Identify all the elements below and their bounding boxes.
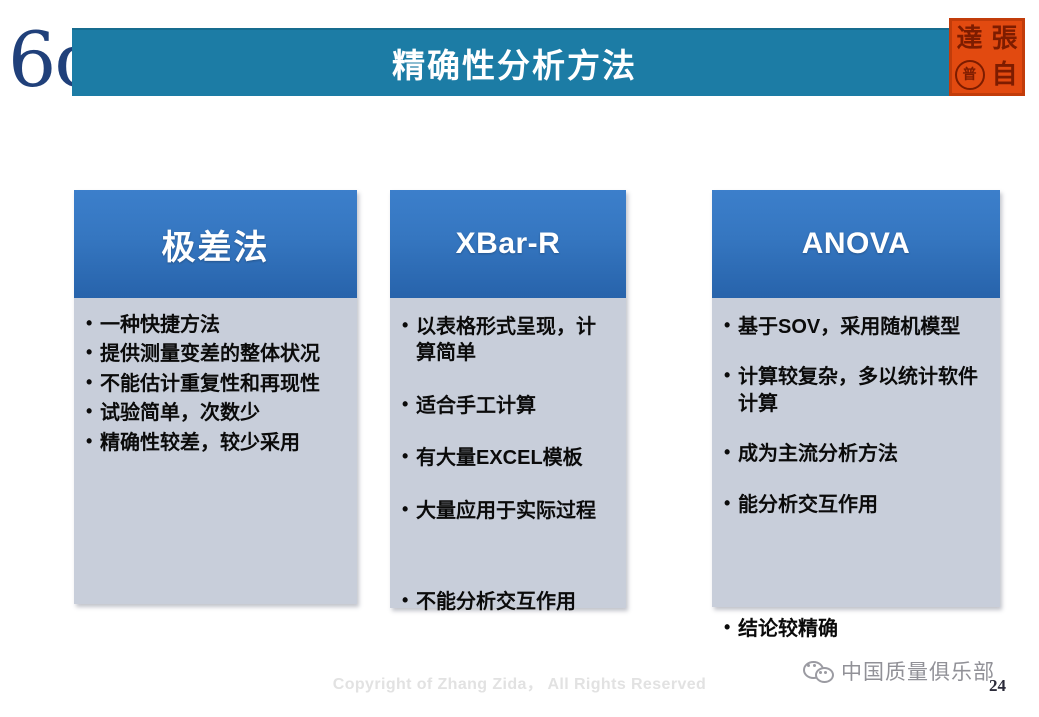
seal-char-2: 張 bbox=[987, 21, 1022, 57]
card-header-anova: ANOVA bbox=[712, 190, 1000, 298]
list-item-label: 有大量EXCEL模板 bbox=[416, 445, 614, 471]
seal-char-3: 普 bbox=[952, 57, 987, 93]
card-title-anova: ANOVA bbox=[802, 227, 911, 261]
seal-char-4: 自 bbox=[987, 57, 1022, 93]
list-item-label: 结论较精确 bbox=[738, 616, 838, 642]
bullet-dot-icon: • bbox=[402, 393, 416, 417]
bullet-dot-icon: • bbox=[724, 616, 738, 640]
bullet-dot-icon: • bbox=[402, 314, 416, 338]
bullet-dot-icon: • bbox=[402, 498, 416, 522]
bullet-dot-icon: • bbox=[724, 364, 738, 388]
card-title-xbar-r: XBar-R bbox=[456, 227, 561, 261]
bullet-dot-icon: • bbox=[86, 400, 100, 424]
page-number: 24 bbox=[989, 676, 1006, 696]
bullet-dot-icon: • bbox=[86, 312, 100, 336]
list-item-label: 大量应用于实际过程 bbox=[416, 498, 614, 524]
list-item-label: 能分析交互作用 bbox=[738, 492, 988, 518]
list-item-label: 一种快捷方法 bbox=[100, 312, 345, 338]
list-item: • 能分析交互作用 bbox=[724, 492, 988, 518]
bullet-dot-icon: • bbox=[86, 341, 100, 365]
bullet-dot-icon: • bbox=[402, 589, 416, 613]
list-item-overflow-anova: • 结论较精确 bbox=[724, 616, 838, 642]
seal-stamp-logo: 達 張 普 自 bbox=[949, 18, 1025, 96]
list-item-label: 适合手工计算 bbox=[416, 393, 614, 419]
page-title: 精确性分析方法 bbox=[392, 39, 637, 87]
list-item-overflow-xbar-r: • 不能分析交互作用 bbox=[402, 589, 576, 615]
card-body-xbar-r: • 以表格形式呈现，计算简单 • 适合手工计算 • 有大量EXCEL模板 • 大… bbox=[390, 298, 626, 560]
list-item-label: 不能估计重复性和再现性 bbox=[100, 371, 345, 397]
seal-char-3-inner: 普 bbox=[955, 60, 985, 90]
card-header-xbar-r: XBar-R bbox=[390, 190, 626, 298]
list-item-label: 以表格形式呈现，计算简单 bbox=[416, 314, 614, 367]
bullet-dot-icon: • bbox=[86, 430, 100, 454]
bullet-dot-icon: • bbox=[724, 492, 738, 516]
list-item: • 试验简单，次数少 bbox=[86, 400, 345, 426]
watermark: 中国质量俱乐部 bbox=[803, 656, 995, 686]
card-body-anova: • 基于SOV，采用随机模型 • 计算较复杂，多以统计软件计算 • 成为主流分析… bbox=[712, 298, 1000, 552]
seal-char-1: 達 bbox=[952, 21, 987, 57]
list-item: • 精确性较差，较少采用 bbox=[86, 430, 345, 456]
list-item-label: 基于SOV，采用随机模型 bbox=[738, 314, 988, 340]
method-card-anova: ANOVA • 基于SOV，采用随机模型 • 计算较复杂，多以统计软件计算 • … bbox=[712, 190, 1000, 607]
method-card-xbar-r: XBar-R • 以表格形式呈现，计算简单 • 适合手工计算 • 有大量EXCE… bbox=[390, 190, 626, 608]
card-header-range: 极差法 bbox=[74, 190, 357, 298]
list-item: • 一种快捷方法 bbox=[86, 312, 345, 338]
bullet-dot-icon: • bbox=[724, 441, 738, 465]
bullet-dot-icon: • bbox=[86, 371, 100, 395]
list-item-label: 提供测量变差的整体状况 bbox=[100, 341, 345, 367]
list-item-label: 不能分析交互作用 bbox=[416, 589, 576, 615]
list-item: • 计算较复杂，多以统计软件计算 bbox=[724, 364, 988, 417]
list-item-label: 计算较复杂，多以统计软件计算 bbox=[738, 364, 988, 417]
card-body-range: • 一种快捷方法 • 提供测量变差的整体状况 • 不能估计重复性和再现性 • 试… bbox=[74, 298, 357, 469]
wechat-icon bbox=[803, 659, 833, 683]
watermark-label: 中国质量俱乐部 bbox=[841, 656, 995, 686]
card-title-range: 极差法 bbox=[162, 220, 270, 269]
title-banner: 精确性分析方法 bbox=[72, 28, 1017, 96]
list-item: • 基于SOV，采用随机模型 bbox=[724, 314, 988, 340]
list-item: • 以表格形式呈现，计算简单 bbox=[402, 314, 614, 367]
bullet-dot-icon: • bbox=[724, 314, 738, 338]
bullet-dot-icon: • bbox=[402, 445, 416, 469]
method-card-range: 极差法 • 一种快捷方法 • 提供测量变差的整体状况 • 不能估计重复性和再现性… bbox=[74, 190, 357, 604]
list-item: • 成为主流分析方法 bbox=[724, 441, 988, 467]
list-item: • 有大量EXCEL模板 bbox=[402, 445, 614, 471]
list-item-label: 成为主流分析方法 bbox=[738, 441, 988, 467]
list-item-label: 精确性较差，较少采用 bbox=[100, 430, 345, 456]
list-item: • 不能估计重复性和再现性 bbox=[86, 371, 345, 397]
list-item: • 大量应用于实际过程 bbox=[402, 498, 614, 524]
list-item: • 适合手工计算 bbox=[402, 393, 614, 419]
list-item: • 提供测量变差的整体状况 bbox=[86, 341, 345, 367]
list-item-label: 试验简单，次数少 bbox=[100, 400, 345, 426]
slide-root: 6σ 精确性分析方法 達 張 普 自 极差法 • 一种快捷方法 • 提供测量变差… bbox=[0, 0, 1039, 717]
